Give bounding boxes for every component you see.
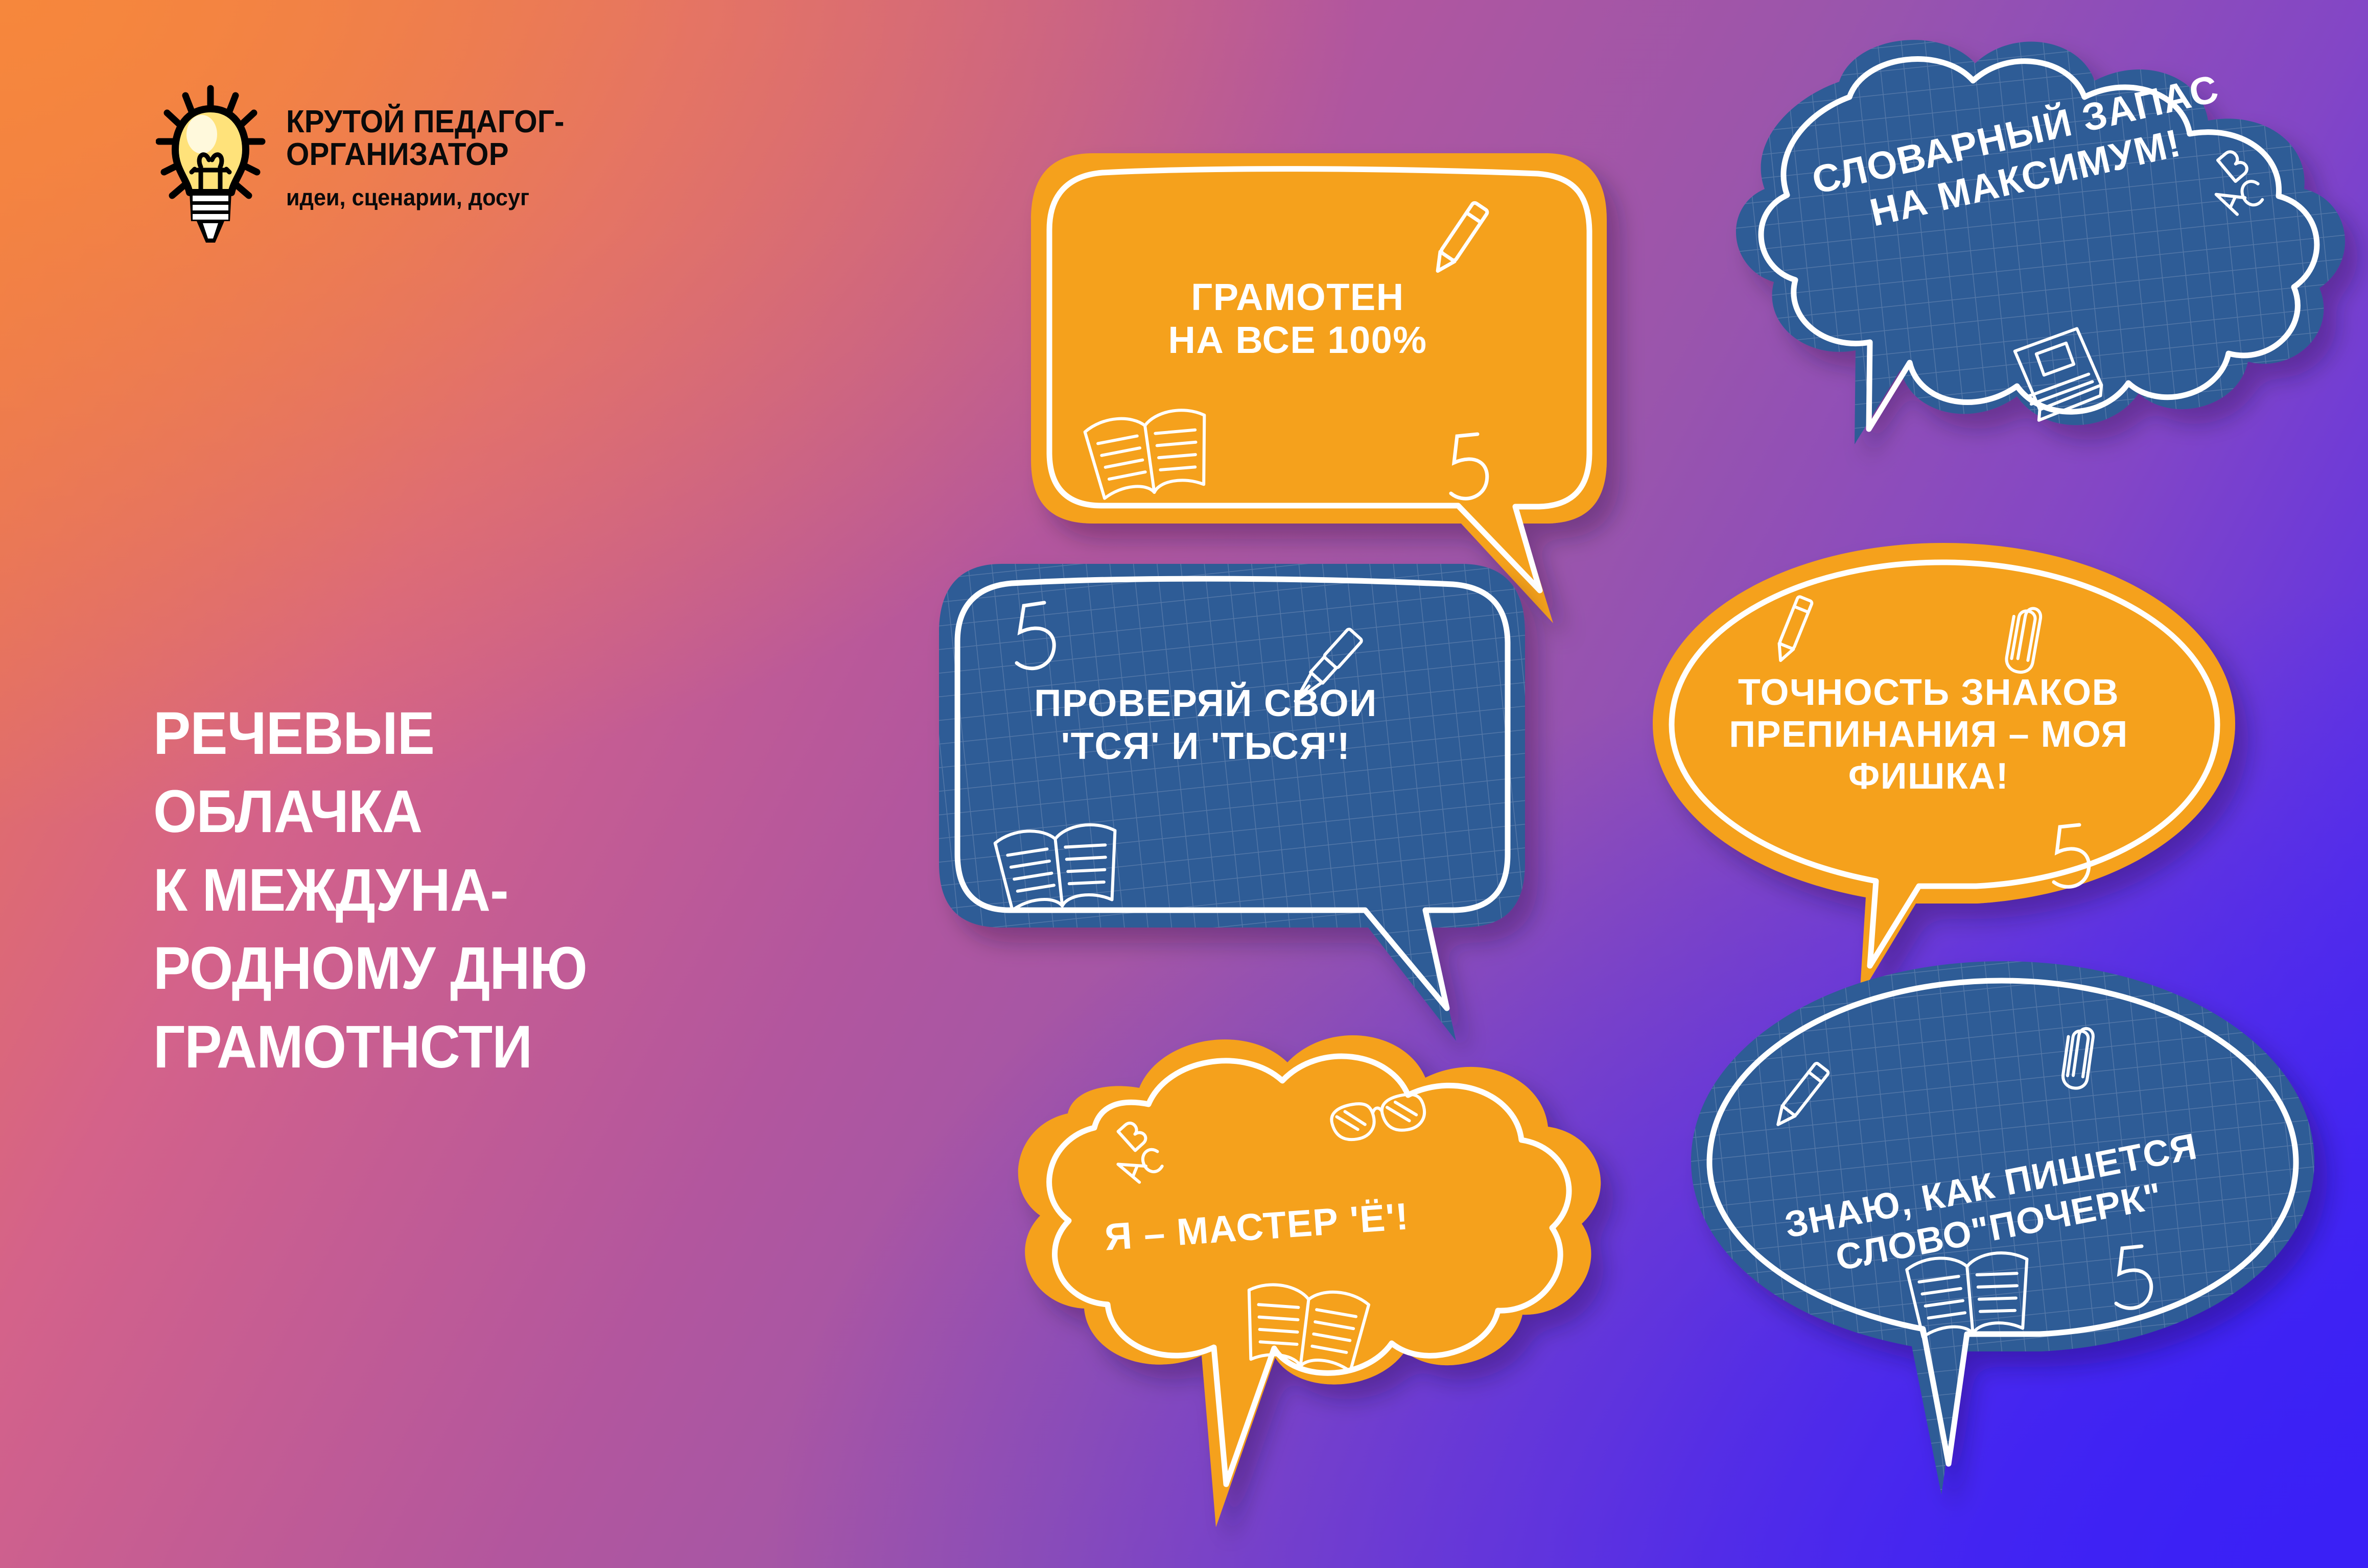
headline-line-5: ГРАМОТНСТИ (153, 1008, 842, 1086)
poster-canvas: КРУТОЙ ПЕДАГОГ- ОРГАНИЗАТОР идеи, сценар… (0, 0, 2368, 1568)
page-title: РЕЧЕВЫЕ ОБЛАЧКА К МЕЖДУНА- РОДНОМУ ДНЮ Г… (153, 695, 842, 1086)
bubble-pocherk[interactable]: ЗНАЮ, КАК ПИШЕТСЯ СЛОВО"ПОЧЕРК" (1676, 950, 2340, 1517)
bubble-slovarnyi-zapas[interactable]: СЛОВАРНЫЙ ЗАПАС НА МАКСИМУМ! (1686, 20, 2368, 480)
logo-name-line2: ОРГАНИЗАТОР (286, 138, 565, 171)
bubble-master-yo[interactable]: Я – МАСТЕР 'Ё'! (971, 991, 1625, 1548)
headline-line-2: ОБЛАЧКА (153, 773, 842, 851)
lightbulb-icon (156, 84, 266, 253)
logo-text-block: КРУТОЙ ПЕДАГОГ- ОРГАНИЗАТОР идеи, сценар… (286, 84, 582, 211)
logo-name-line1: КРУТОЙ ПЕДАГОГ- (286, 106, 565, 138)
headline-line-4: РОДНОМУ ДНЮ (153, 930, 842, 1008)
headline-line-3: К МЕЖДУНА- (153, 851, 842, 930)
headline-line-1: РЕЧЕВЫЕ (153, 695, 842, 773)
bubble-gramoten[interactable]: ГРАМОТЕН НА ВСЕ 100% (1012, 148, 1650, 628)
logo-tagline: идеи, сценарии, досуг (286, 184, 570, 211)
brand-logo: КРУТОЙ ПЕДАГОГ- ОРГАНИЗАТОР идеи, сценар… (156, 84, 582, 253)
bubble-proveryay[interactable]: ПРОВЕРЯЙ СВОИ 'ТСЯ' И 'ТЬСЯ'! (920, 557, 1568, 1057)
